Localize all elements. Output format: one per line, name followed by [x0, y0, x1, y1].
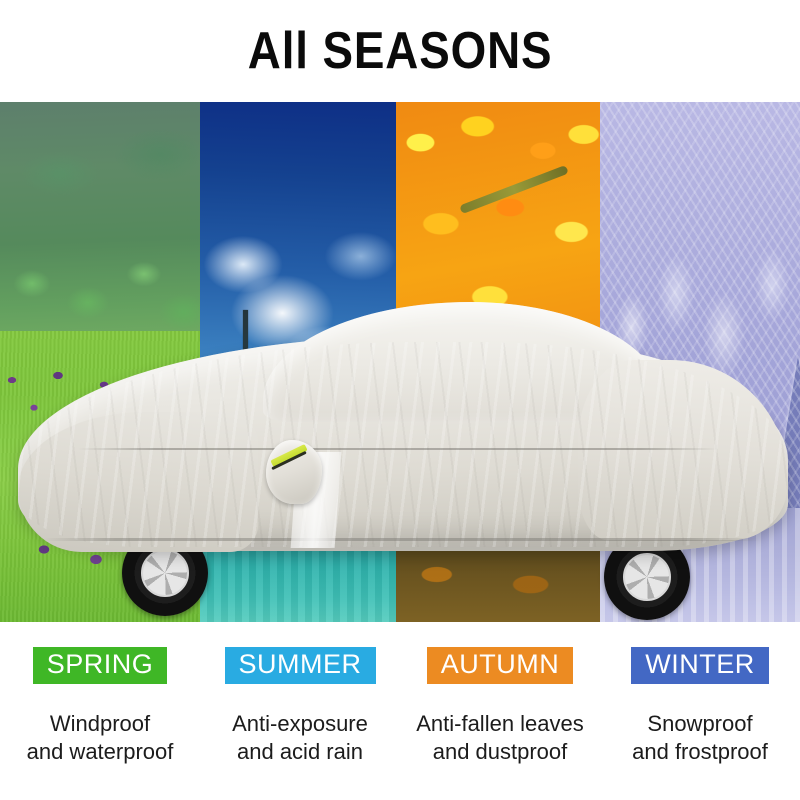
status-badge-spring: SPRING [33, 647, 168, 684]
status-badge-winter: WINTER [631, 647, 768, 684]
summer-sky-clouds [200, 102, 396, 508]
season-photo-panels [0, 102, 800, 622]
season-description-autumn: Anti-fallen leaves and dustproof [416, 710, 584, 766]
spring-scene [0, 102, 200, 622]
autumn-leaf-litter [396, 102, 600, 508]
season-column-spring: SPRING Windproof and waterproof [0, 628, 200, 800]
iris-flowers-upper [0, 341, 200, 455]
season-column-summer: SUMMER Anti-exposure and acid rain [200, 628, 400, 800]
spring-forest [0, 102, 200, 341]
iris-flowers-lower [0, 508, 200, 591]
snow-tree-icon [640, 390, 684, 518]
summer-mast [243, 310, 248, 518]
season-column-winter: WINTER Snowproof and frostproof [600, 628, 800, 800]
page-title: All SEASONS [248, 21, 553, 81]
status-badge-summer: SUMMER [225, 647, 376, 684]
season-collage [0, 102, 800, 622]
snow-tree-icon [688, 368, 738, 518]
season-description-winter: Snowproof and frostproof [632, 710, 768, 766]
autumn-shaded-ground [396, 497, 600, 622]
season-captions: SPRING Windproof and waterproof SUMMER A… [0, 628, 800, 800]
summer-scene [200, 102, 396, 622]
title-bar: All SEASONS [0, 0, 800, 102]
season-description-summer: Anti-exposure and acid rain [232, 710, 368, 766]
snow-tree-icon [772, 356, 800, 518]
winter-icy-ground [600, 508, 800, 622]
autumn-scene [396, 102, 600, 622]
season-column-autumn: AUTUMN Anti-fallen leaves and dustproof [400, 628, 600, 800]
summer-sea [200, 497, 396, 622]
season-description-spring: Windproof and waterproof [27, 710, 174, 766]
winter-scene [600, 102, 800, 622]
all-seasons-poster: All SEASONS [0, 0, 800, 800]
status-badge-autumn: AUTUMN [427, 647, 574, 684]
